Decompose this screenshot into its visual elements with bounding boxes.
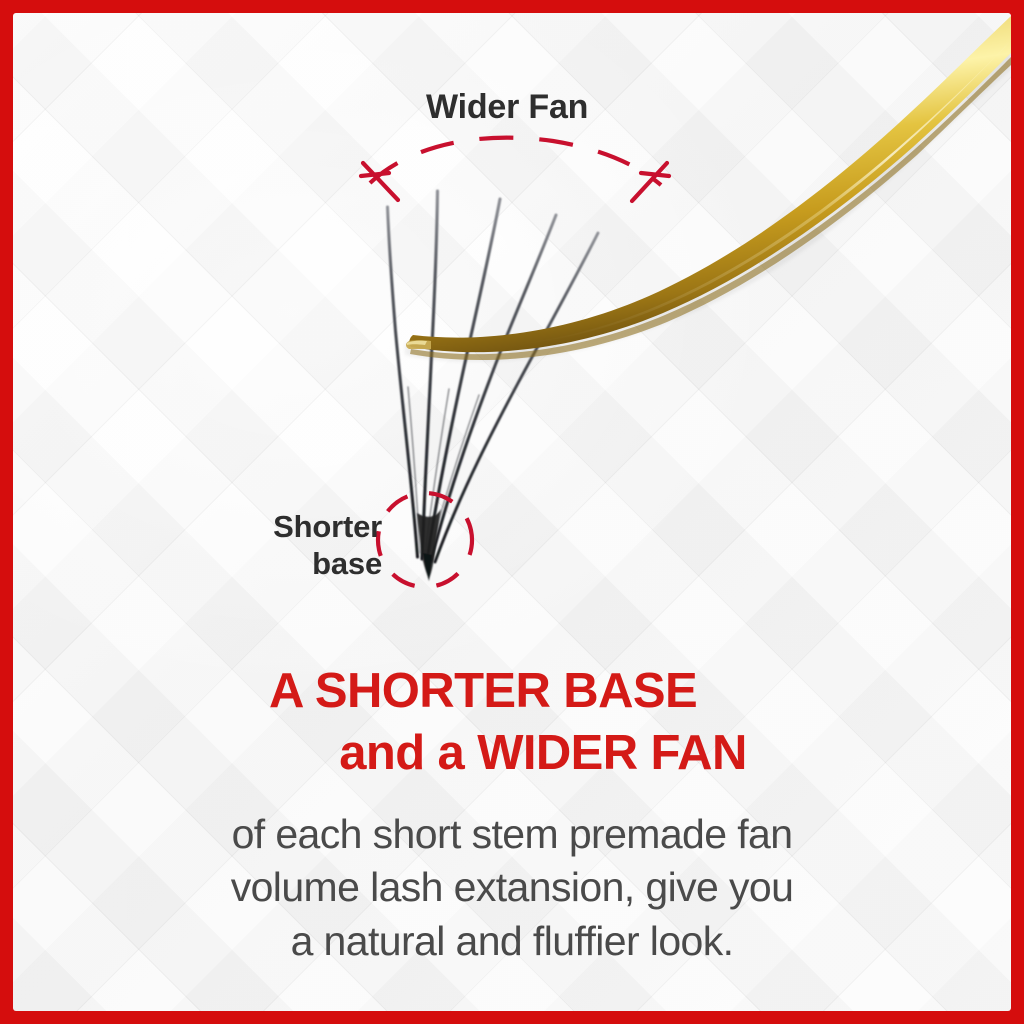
poster-canvas: Wider Fan Shorter base A SHORTER BASE an…: [13, 13, 1011, 1011]
headline-line-1: A SHORTER BASE: [13, 661, 1011, 723]
poster-frame: Wider Fan Shorter base A SHORTER BASE an…: [0, 0, 1024, 1024]
lash-fan-fine-hairs: [408, 387, 479, 555]
lash-fan-base: [417, 509, 441, 581]
gold-tweezer: [406, 16, 1011, 360]
wider-fan-arc-end-ticks: [361, 163, 669, 201]
headline: A SHORTER BASE and a WIDER FAN: [13, 661, 1011, 784]
shorter-base-label: Shorter base: [222, 509, 382, 582]
wider-fan-dashed-arc: [370, 138, 661, 185]
wider-fan-label: Wider Fan: [426, 87, 588, 127]
headline-line-2: and a WIDER FAN: [13, 723, 1011, 785]
shorter-base-dashed-circle: [369, 484, 480, 595]
body-paragraph: of each short stem premade fan volume la…: [13, 808, 1011, 968]
lash-fan-fibers: [388, 191, 599, 562]
